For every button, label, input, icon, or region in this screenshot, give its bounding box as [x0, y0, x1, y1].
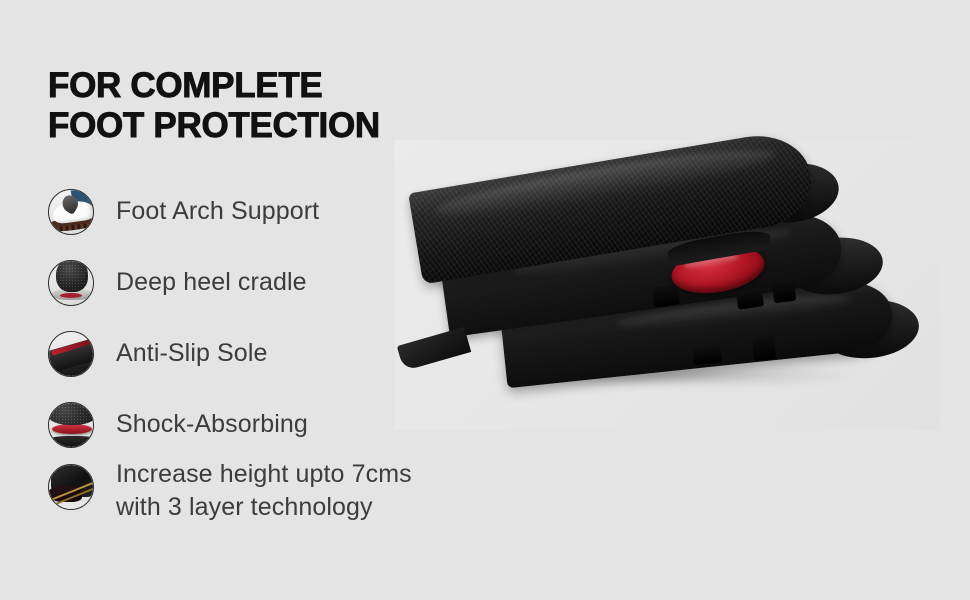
product-image: [395, 140, 940, 430]
headline-line-1: FOR COMPLETE: [48, 66, 478, 106]
shock-absorbing-air-cushion-icon-art: [49, 403, 93, 447]
shock-absorbing-air-cushion-icon: [48, 402, 94, 448]
heel-cradle-icon: [48, 260, 94, 306]
list-item: Increase height upto 7cms with 3 layer t…: [48, 460, 478, 531]
feature-label: Foot Arch Support: [116, 195, 319, 228]
layer-connector-post: [652, 284, 681, 307]
product-feature-banner: FOR COMPLETE FOOT PROTECTION Foot Arch S…: [0, 0, 970, 600]
anti-slip-sole-icon-art: [49, 332, 93, 376]
features-column: FOR COMPLETE FOOT PROTECTION Foot Arch S…: [48, 66, 478, 146]
height-increase-boot-icon: [48, 464, 94, 510]
height-increase-boot-icon-art: [49, 465, 93, 509]
feature-label: Shock-Absorbing: [116, 408, 308, 441]
feature-label: Anti-Slip Sole: [116, 337, 267, 370]
feature-label: Deep heel cradle: [116, 266, 307, 299]
heel-cradle-icon-art: [49, 261, 93, 305]
layer-connector-post: [772, 279, 797, 304]
feature-label: Increase height upto 7cms with 3 layer t…: [116, 458, 412, 524]
layer-connector-post: [692, 345, 722, 366]
page-title: FOR COMPLETE FOOT PROTECTION: [48, 66, 478, 146]
layer-connector-post: [752, 335, 776, 361]
sneaker-arch-support-icon: [48, 189, 94, 235]
layer-connector-post: [736, 288, 764, 309]
sneaker-arch-support-icon-art: [49, 190, 93, 234]
anti-slip-sole-icon: [48, 331, 94, 377]
